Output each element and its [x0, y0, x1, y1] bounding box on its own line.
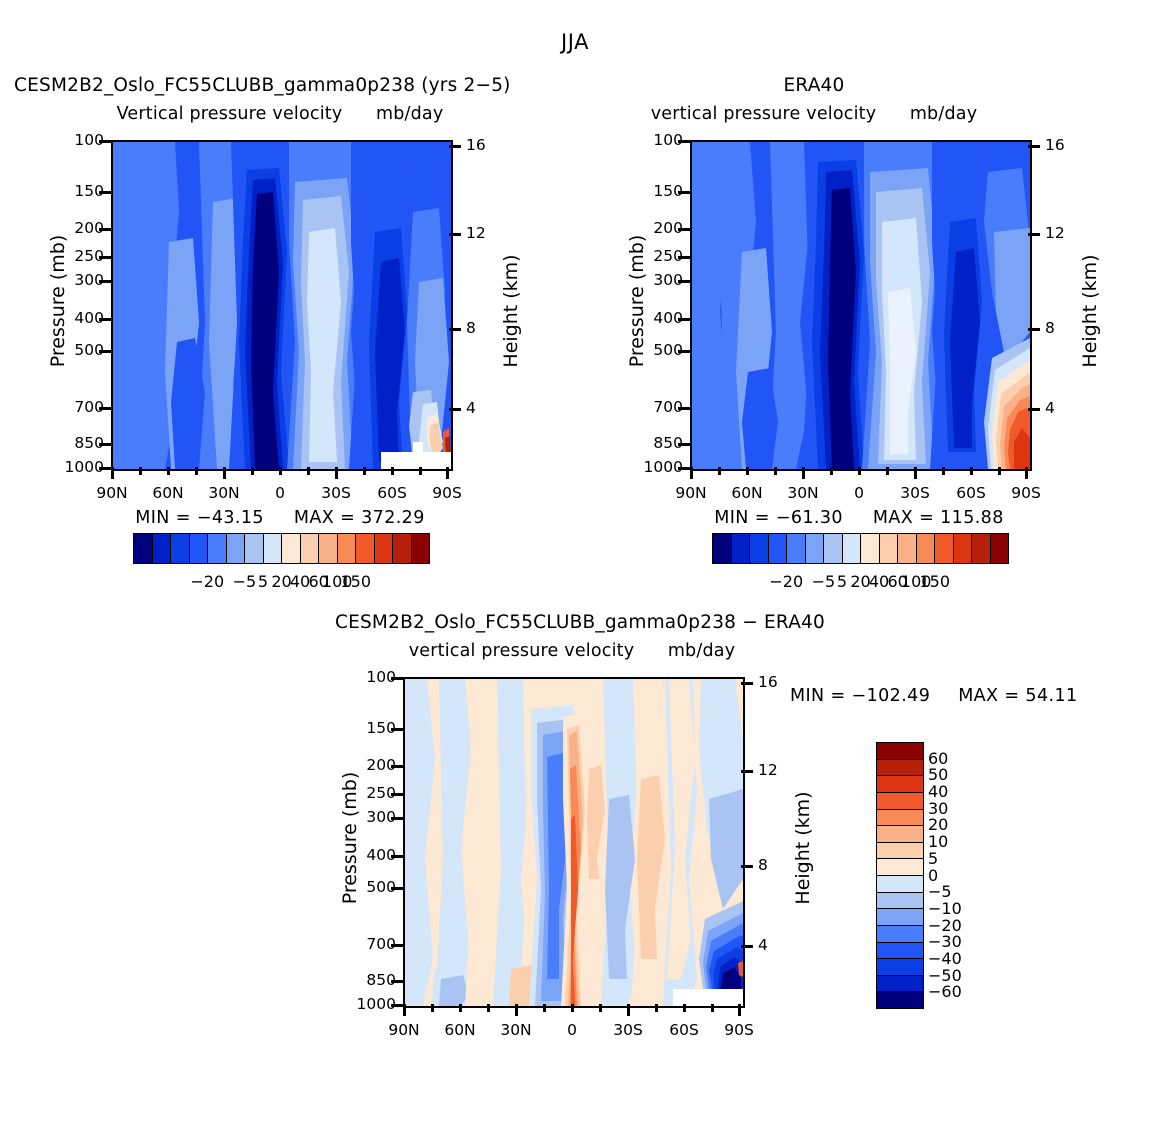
obs-subtitle-text: vertical pressure velocity	[651, 104, 877, 124]
pressure-tick-label: 150	[62, 182, 104, 200]
colorbar-swatch	[877, 810, 923, 827]
colorbar-swatch	[301, 534, 320, 563]
model-units-text: mb/day	[376, 104, 443, 124]
colorbar-swatch	[190, 534, 209, 563]
obs-min-label: MIN = −61.30	[714, 508, 843, 528]
pressure-tick-label: 150	[354, 719, 396, 737]
model-minmax: MIN = −43.15 MAX = 372.29	[111, 508, 449, 528]
colorbar-swatch	[356, 534, 375, 563]
diff-minmax: MIN = −102.49 MAX = 54.11	[790, 686, 1078, 706]
height-tick-label: 8	[1045, 319, 1055, 337]
latitude-tick-label: 30N	[490, 1021, 542, 1039]
colorbar-swatch	[877, 859, 923, 876]
model-min-label: MIN = −43.15	[135, 508, 264, 528]
colorbar-swatch	[171, 534, 190, 563]
colorbar-tick-label: 150	[909, 572, 961, 591]
latitude-tick-label: 30S	[310, 484, 362, 502]
colorbar-swatch	[227, 534, 246, 563]
height-tick-label: 8	[466, 319, 476, 337]
latitude-tick-label: 60N	[721, 484, 773, 502]
pressure-tick-label: 1000	[56, 458, 104, 476]
colorbar-swatch	[877, 843, 923, 860]
colorbar-swatch	[806, 534, 825, 563]
colorbar-swatch	[991, 534, 1009, 563]
pressure-tick-label: 700	[354, 935, 396, 953]
colorbar-tick-label: 150	[330, 572, 382, 591]
pressure-tick-label: 100	[62, 131, 104, 149]
colorbar-swatch	[954, 534, 973, 563]
colorbar-swatch	[713, 534, 732, 563]
obs-pressure-axis-title: Pressure (mb)	[626, 221, 648, 381]
colorbar-swatch	[861, 534, 880, 563]
colorbar-swatch	[375, 534, 394, 563]
obs-panel-subtitle: vertical pressure velocity mb/day	[645, 104, 983, 124]
pressure-tick-label: 700	[641, 398, 683, 416]
colorbar-swatch	[877, 893, 923, 910]
colorbar-swatch	[153, 534, 172, 563]
colorbar-swatch	[877, 943, 923, 960]
colorbar-swatch	[877, 959, 923, 976]
height-tick-label: 8	[758, 856, 768, 874]
model-height-axis-title: Height (km)	[500, 241, 522, 381]
colorbar-swatch	[824, 534, 843, 563]
height-tick-label: 16	[466, 136, 486, 154]
colorbar-swatch	[338, 534, 357, 563]
latitude-tick-label: 30N	[777, 484, 829, 502]
pressure-tick-label: 1000	[635, 458, 683, 476]
latitude-tick-label: 30N	[198, 484, 250, 502]
colorbar-swatch	[412, 534, 430, 563]
obs-panel-title: ERA40	[645, 75, 983, 96]
model-subtitle-text: Vertical pressure velocity	[117, 104, 343, 124]
obs-height-axis-title: Height (km)	[1079, 241, 1101, 381]
obs-units-text: mb/day	[910, 104, 977, 124]
colorbar-swatch	[877, 992, 923, 1008]
colorbar-swatch	[245, 534, 264, 563]
pressure-tick-label: 850	[641, 434, 683, 452]
colorbar-swatch	[880, 534, 899, 563]
latitude-tick-label: 30S	[889, 484, 941, 502]
diff-panel-subtitle: vertical pressure velocity mb/day	[403, 641, 741, 661]
colorbar-swatch	[877, 826, 923, 843]
colorbar-swatch	[393, 534, 412, 563]
height-tick-label: 12	[1045, 224, 1065, 242]
height-tick-label: 4	[466, 399, 476, 417]
colorbar-swatch	[877, 776, 923, 793]
pressure-tick-label: 1000	[348, 995, 396, 1013]
colorbar-swatch	[877, 909, 923, 926]
colorbar-swatch	[917, 534, 936, 563]
colorbar-swatch	[264, 534, 283, 563]
diff-subtitle-text: vertical pressure velocity	[409, 641, 635, 661]
height-tick-label: 12	[758, 761, 778, 779]
model-pressure-axis-title: Pressure (mb)	[47, 221, 69, 381]
colorbar-swatch	[843, 534, 862, 563]
colorbar-swatch	[935, 534, 954, 563]
colorbar-swatch	[877, 760, 923, 777]
latitude-tick-label: 90S	[713, 1021, 765, 1039]
latitude-tick-label: 60N	[142, 484, 194, 502]
diff-panel-title: CESM2B2_Oslo_FC55CLUBB_gamma0p238 − ERA4…	[300, 612, 860, 633]
diff-min-label: MIN = −102.49	[790, 686, 930, 706]
colorbar-swatch	[319, 534, 338, 563]
pressure-tick-label: 100	[354, 668, 396, 686]
pressure-tick-label: 100	[641, 131, 683, 149]
colorbar-swatch	[787, 534, 806, 563]
height-tick-label: 16	[758, 673, 778, 691]
colorbar-swatch	[732, 534, 751, 563]
colorbar-swatch	[208, 534, 227, 563]
colorbar-swatch	[877, 976, 923, 993]
latitude-tick-label: 0	[546, 1021, 598, 1039]
latitude-tick-label: 30S	[602, 1021, 654, 1039]
colorbar-swatch	[877, 926, 923, 943]
model-panel-subtitle: Vertical pressure velocity mb/day	[111, 104, 449, 124]
latitude-tick-label: 60N	[434, 1021, 486, 1039]
colorbar-swatch	[769, 534, 788, 563]
latitude-tick-label: 0	[833, 484, 885, 502]
obs-minmax: MIN = −61.30 MAX = 115.88	[690, 508, 1028, 528]
diff-max-label: MAX = 54.11	[958, 686, 1077, 706]
latitude-tick-label: 60S	[366, 484, 418, 502]
obs-contour-plot[interactable]	[690, 140, 1032, 471]
colorbar-swatch	[282, 534, 301, 563]
height-tick-label: 12	[466, 224, 486, 242]
model-max-label: MAX = 372.29	[294, 508, 425, 528]
diff-contour-plot[interactable]	[403, 677, 745, 1008]
latitude-tick-label: 0	[254, 484, 306, 502]
model-contour-plot[interactable]	[111, 140, 453, 471]
colorbar-swatch	[877, 743, 923, 760]
latitude-tick-label: 90N	[86, 484, 138, 502]
height-tick-label: 4	[758, 936, 768, 954]
latitude-tick-label: 90N	[378, 1021, 430, 1039]
diff-units-text: mb/day	[668, 641, 735, 661]
model-panel-title: CESM2B2_Oslo_FC55CLUBB_gamma0p238 (yrs 2…	[14, 75, 511, 96]
colorbar-swatch	[134, 534, 153, 563]
season-title: JJA	[0, 30, 1150, 54]
colorbar-swatch	[750, 534, 769, 563]
latitude-tick-label: 60S	[945, 484, 997, 502]
diff-height-axis-title: Height (km)	[792, 778, 814, 918]
pressure-tick-label: 850	[354, 971, 396, 989]
pressure-tick-label: 850	[62, 434, 104, 452]
obs-max-label: MAX = 115.88	[873, 508, 1004, 528]
diff-colorbar[interactable]	[876, 742, 924, 1009]
height-tick-label: 16	[1045, 136, 1065, 154]
colorbar-swatch	[898, 534, 917, 563]
latitude-tick-label: 90N	[665, 484, 717, 502]
height-tick-label: 4	[1045, 399, 1055, 417]
latitude-tick-label: 90S	[1000, 484, 1052, 502]
model-colorbar[interactable]	[133, 533, 430, 564]
pressure-tick-label: 150	[641, 182, 683, 200]
diff-pressure-axis-title: Pressure (mb)	[339, 758, 361, 918]
colorbar-tick-label: −60	[928, 982, 974, 1001]
colorbar-swatch	[972, 534, 991, 563]
latitude-tick-label: 60S	[658, 1021, 710, 1039]
obs-colorbar[interactable]	[712, 533, 1009, 564]
colorbar-swatch	[877, 793, 923, 810]
pressure-tick-label: 700	[62, 398, 104, 416]
latitude-tick-label: 90S	[421, 484, 473, 502]
colorbar-swatch	[877, 876, 923, 893]
